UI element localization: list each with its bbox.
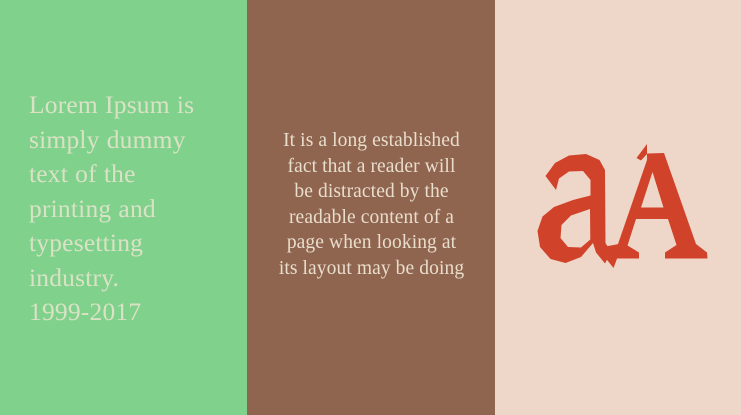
paragraph-sample-text: It is a long established fact that a rea… (259, 128, 484, 281)
lorem-ipsum-text: Lorem Ipsum is simply dummy text of the … (29, 88, 239, 330)
letter-a-uppercase-icon (607, 144, 708, 259)
lorem-ipsum-panel: Lorem Ipsum is simply dummy text of the … (0, 0, 247, 415)
glyph-pair-artwork (495, 0, 741, 415)
paragraph-sample-panel: It is a long established fact that a rea… (247, 0, 495, 415)
font-specimen-card: Lorem Ipsum is simply dummy text of the … (0, 0, 741, 415)
glyph-showcase-panel (495, 0, 741, 415)
glyph-stage (495, 0, 741, 415)
